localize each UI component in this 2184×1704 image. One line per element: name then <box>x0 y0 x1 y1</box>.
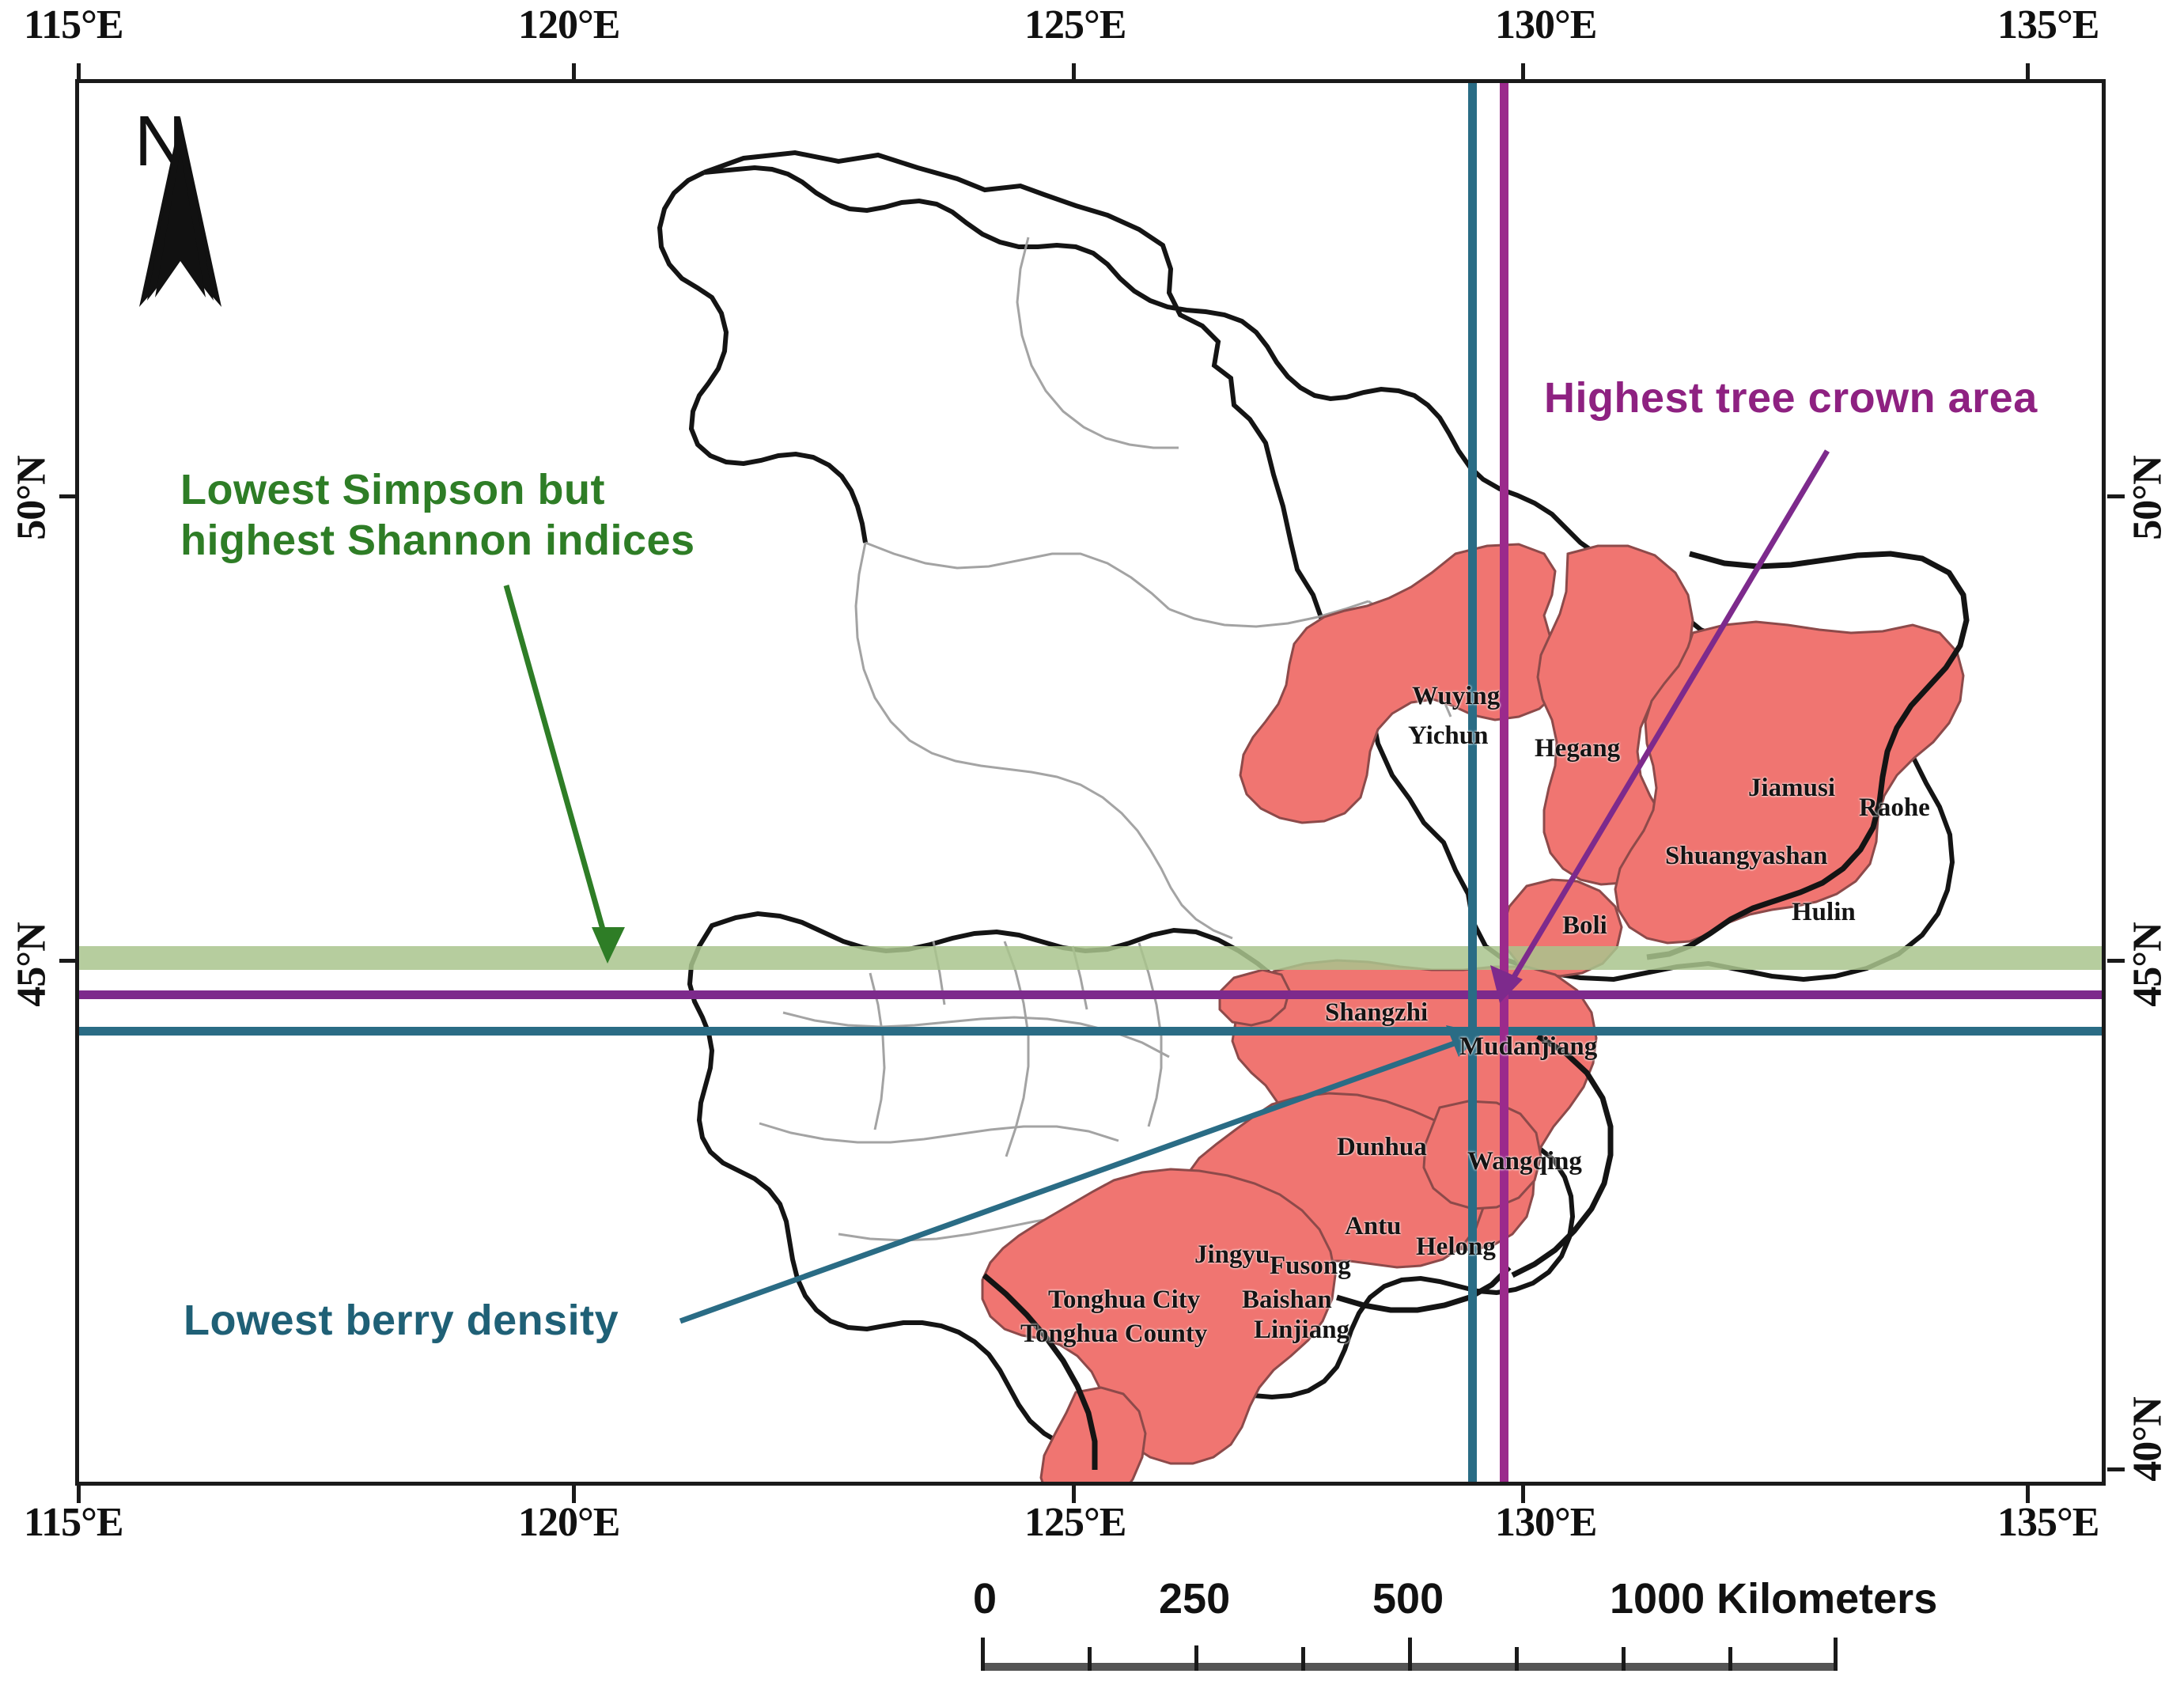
scale-label-0: 0 <box>973 1574 997 1623</box>
tick-top-4 <box>2026 63 2030 81</box>
scale-label-1000: 1000 Kilometers <box>1610 1574 1937 1623</box>
tick-top-0 <box>77 63 81 81</box>
city-label-mudanjiang: Mudanjiang <box>1459 1032 1597 1062</box>
city-label-shangzhi: Shangzhi <box>1325 998 1428 1028</box>
annotation-purple-label: Highest tree crown area <box>1544 373 2038 424</box>
scale-tick-5 <box>1515 1647 1519 1671</box>
axis-label-top-0: 115°E <box>24 2 123 48</box>
map-figure: 115°E 120°E 125°E 130°E 135°E 115°E 120°… <box>0 0 2184 1704</box>
city-label-shuangyashan: Shuangyashan <box>1665 842 1827 871</box>
scale-tick-3 <box>1301 1647 1305 1671</box>
tick-top-3 <box>1521 63 1525 81</box>
city-label-hulin: Hulin <box>1792 898 1856 927</box>
axis-label-bottom-0: 115°E <box>24 1499 123 1546</box>
axis-label-right-50n: 50°N <box>2125 443 2171 554</box>
axis-label-right-40n: 40°N <box>2125 1384 2171 1495</box>
tick-bottom-0 <box>77 1486 81 1503</box>
green-latitude-band <box>79 946 2102 970</box>
purple-latitude-line <box>79 990 2102 999</box>
tick-left-45n <box>59 959 77 963</box>
annotation-green-label: Lowest Simpson but highest Shannon indic… <box>180 465 695 566</box>
tick-bottom-4 <box>2026 1486 2030 1503</box>
city-label-hegang: Hegang <box>1535 734 1620 763</box>
city-label-raohe: Raohe <box>1859 793 1930 823</box>
scale-tick-0 <box>981 1638 985 1671</box>
axis-label-bottom-2: 125°E <box>1024 1499 1126 1546</box>
scale-tick-1 <box>1088 1647 1092 1671</box>
annotation-blue-label: Lowest berry density <box>184 1296 619 1346</box>
city-label-linjiang: Linjiang <box>1254 1316 1349 1345</box>
teal-longitude-line <box>1468 83 1477 1482</box>
scale-bar: 0 250 500 1000 Kilometers <box>981 1574 1883 1685</box>
tick-left-50n <box>59 494 77 498</box>
north-arrow-icon <box>119 103 245 324</box>
city-label-dunhua: Dunhua <box>1337 1133 1427 1162</box>
city-label-yichun: Yichun <box>1408 721 1488 751</box>
city-label-helong: Helong <box>1416 1233 1496 1262</box>
tick-right-50n <box>2107 494 2125 498</box>
city-label-jiamusi: Jiamusi <box>1748 774 1835 803</box>
axis-label-left-45n: 45°N <box>9 910 55 1021</box>
teal-latitude-line <box>79 1027 2102 1036</box>
scale-tick-7 <box>1728 1647 1732 1671</box>
city-label-fusong: Fusong <box>1270 1251 1351 1281</box>
city-label-tonghua-city: Tonghua City <box>1048 1286 1200 1315</box>
axis-label-left-50n: 50°N <box>9 443 55 554</box>
city-label-boli: Boli <box>1562 911 1607 941</box>
tick-right-40n <box>2107 1467 2125 1471</box>
city-label-tonghua-county: Tonghua County <box>1020 1320 1207 1349</box>
tick-bottom-1 <box>572 1486 576 1503</box>
city-label-wangqing: Wangqing <box>1467 1147 1582 1176</box>
city-label-wuying: Wuying <box>1412 682 1500 711</box>
axis-label-top-4: 135°E <box>1997 2 2099 48</box>
scale-tick-2 <box>1194 1645 1198 1671</box>
city-label-antu: Antu <box>1345 1212 1402 1241</box>
axis-label-bottom-1: 120°E <box>518 1499 619 1546</box>
axis-label-right-45n: 45°N <box>2125 910 2171 1021</box>
city-label-jingyu: Jingyu <box>1194 1240 1270 1270</box>
tick-bottom-3 <box>1521 1486 1525 1503</box>
purple-longitude-line <box>1500 83 1508 1482</box>
axis-label-bottom-4: 135°E <box>1997 1499 2099 1546</box>
tick-right-45n <box>2107 959 2125 963</box>
axis-label-top-1: 120°E <box>518 2 619 48</box>
scale-label-500: 500 <box>1372 1574 1444 1623</box>
scale-tick-4 <box>1408 1638 1412 1671</box>
tick-bottom-2 <box>1072 1486 1076 1503</box>
city-label-baishan: Baishan <box>1242 1286 1332 1315</box>
axis-label-bottom-3: 130°E <box>1495 1499 1596 1546</box>
axis-label-top-3: 130°E <box>1495 2 1596 48</box>
scale-label-250: 250 <box>1159 1574 1230 1623</box>
axis-label-top-2: 125°E <box>1024 2 1126 48</box>
tick-top-1 <box>572 63 576 81</box>
tick-top-2 <box>1072 63 1076 81</box>
scale-tick-8 <box>1834 1638 1838 1671</box>
scale-tick-6 <box>1622 1647 1626 1671</box>
